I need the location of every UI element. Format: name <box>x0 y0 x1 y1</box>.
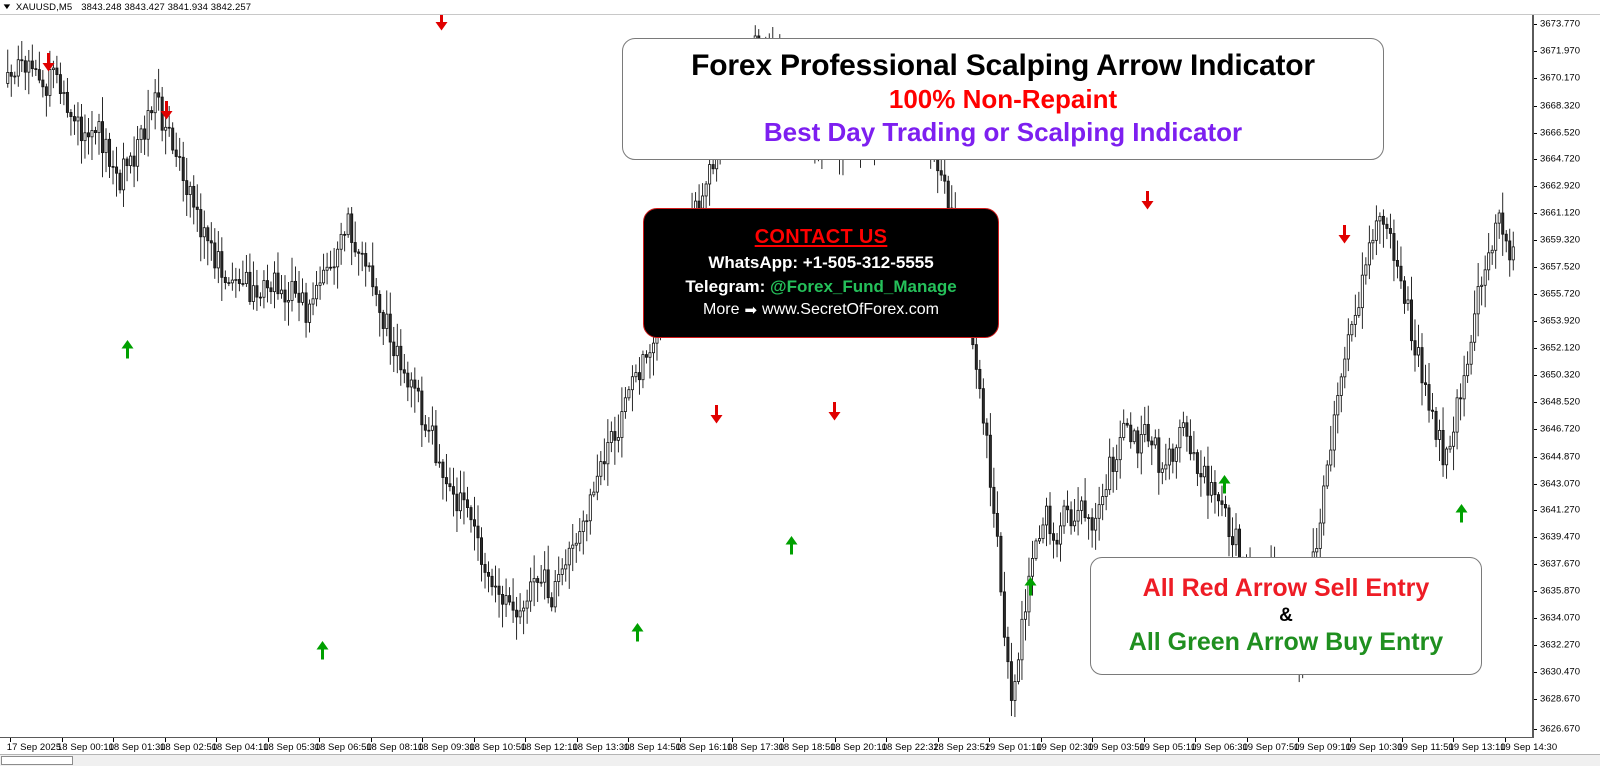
legend-buy-line: All Green Arrow Buy Entry <box>1129 628 1443 658</box>
price-tick-label: 3634.070 <box>1540 613 1580 624</box>
right-arrow-icon: ➡ <box>744 303 757 318</box>
price-tick-label: 3653.920 <box>1540 316 1580 327</box>
time-tick-label: 18 Sep 20:10 <box>830 742 887 753</box>
time-tick-label: 19 Sep 07:50 <box>1242 742 1299 753</box>
time-tick-label: 18 Sep 17:30 <box>727 742 784 753</box>
price-tick-label: 3673.770 <box>1540 19 1580 30</box>
contact-telegram-label: Telegram: <box>685 277 765 296</box>
promo-title-line2: 100% Non-Repaint <box>889 84 1117 115</box>
down-arrow-icon <box>709 405 724 424</box>
up-arrow-icon <box>1454 504 1469 523</box>
price-tick-label: 3639.470 <box>1540 532 1580 543</box>
price-tick-label: 3652.120 <box>1540 343 1580 354</box>
price-tick-label: 3661.120 <box>1540 208 1580 219</box>
time-tick-label: 17 Sep 2025 <box>7 742 61 753</box>
contact-telegram-row: Telegram: @Forex_Fund_Manage <box>685 275 956 299</box>
contact-whatsapp-label: WhatsApp: <box>708 253 798 272</box>
promo-title-line3: Best Day Trading or Scalping Indicator <box>764 117 1242 148</box>
time-tick-label: 18 Sep 04:10 <box>212 742 269 753</box>
time-tick-label: 18 Sep 10:50 <box>469 742 526 753</box>
price-tick-label: 3659.320 <box>1540 235 1580 246</box>
promo-title-line1: Forex Professional Scalping Arrow Indica… <box>691 49 1315 83</box>
time-tick-label: 18 Sep 06:50 <box>315 742 372 753</box>
price-axis-line <box>1533 15 1534 738</box>
price-tick-label: 3668.320 <box>1540 100 1580 111</box>
price-tick-label: 3626.670 <box>1540 724 1580 735</box>
time-tick-label: 19 Sep 09:10 <box>1294 742 1351 753</box>
price-tick-label: 3655.720 <box>1540 289 1580 300</box>
promo-title-box: Forex Professional Scalping Arrow Indica… <box>622 38 1384 160</box>
contact-box: CONTACT US WhatsApp: +1-505-312-5555 Tel… <box>643 208 999 338</box>
time-tick-label: 18 Sep 18:50 <box>779 742 836 753</box>
price-tick-label: 3641.270 <box>1540 505 1580 516</box>
time-tick-label: 19 Sep 10:30 <box>1345 742 1402 753</box>
contact-heading: CONTACT US <box>755 225 888 249</box>
time-tick-label: 19 Sep 06:30 <box>1191 742 1248 753</box>
time-tick-label: 19 Sep 11:50 <box>1397 742 1453 753</box>
chart-header: ▼ XAUUSD,M5 3843.248 3843.427 3841.934 3… <box>0 0 1600 15</box>
price-tick-label: 3664.720 <box>1540 154 1580 165</box>
price-tick-label: 3648.520 <box>1540 396 1580 407</box>
price-tick-label: 3630.470 <box>1540 667 1580 678</box>
down-arrow-icon <box>41 53 56 72</box>
price-tick-label: 3670.170 <box>1540 72 1580 83</box>
contact-telegram-value[interactable]: @Forex_Fund_Manage <box>770 277 957 296</box>
time-tick-label: 19 Sep 02:30 <box>1036 742 1093 753</box>
time-tick-label: 18 Sep 09:30 <box>418 742 475 753</box>
price-tick-label: 3635.870 <box>1540 586 1580 597</box>
legend-sell-line: All Red Arrow Sell Entry <box>1143 574 1430 604</box>
price-tick-label: 3657.520 <box>1540 262 1580 273</box>
time-tick-label: 19 Sep 01:10 <box>985 742 1042 753</box>
up-arrow-icon <box>784 536 799 555</box>
chevron-down-icon[interactable]: ▼ <box>1 3 12 11</box>
time-tick-label: 18 Sep 08:10 <box>366 742 423 753</box>
chart-symbol-label: XAUUSD,M5 <box>16 2 72 13</box>
contact-more-label: More <box>703 299 739 321</box>
up-arrow-icon <box>120 340 135 359</box>
price-tick-label: 3646.720 <box>1540 423 1580 434</box>
price-tick-label: 3662.920 <box>1540 181 1580 192</box>
price-tick-label: 3671.970 <box>1540 45 1580 56</box>
price-tick-label: 3632.270 <box>1540 640 1580 651</box>
contact-whatsapp-value[interactable]: +1-505-312-5555 <box>803 253 934 272</box>
legend-ampersand: & <box>1279 605 1293 628</box>
scrollbar-thumb[interactable] <box>1 756 73 765</box>
price-tick-label: 3643.070 <box>1540 478 1580 489</box>
up-arrow-icon <box>1217 475 1232 494</box>
time-tick-label: 18 Sep 16:10 <box>675 742 732 753</box>
time-tick-label: 18 Sep 12:10 <box>521 742 578 753</box>
contact-website-row: More ➡ www.SecretOfForex.com <box>703 299 939 321</box>
down-arrow-icon <box>827 402 842 421</box>
price-tick-label: 3628.670 <box>1540 694 1580 705</box>
time-tick-label: 18 Sep 05:30 <box>263 742 320 753</box>
time-tick-label: 18 Sep 02:50 <box>160 742 217 753</box>
down-arrow-icon <box>1337 225 1352 244</box>
contact-website-value[interactable]: www.SecretOfForex.com <box>762 299 939 321</box>
price-axis[interactable]: 3673.7703671.9703670.1703668.3203666.520… <box>1533 15 1600 738</box>
price-tick-label: 3644.870 <box>1540 451 1580 462</box>
time-axis[interactable]: 17 Sep 202518 Sep 00:1018 Sep 01:3018 Se… <box>0 738 1600 754</box>
down-arrow-icon <box>159 101 174 120</box>
time-tick-label: 19 Sep 14:30 <box>1500 742 1557 753</box>
up-arrow-icon <box>1023 577 1038 596</box>
horizontal-scrollbar[interactable] <box>0 754 1600 766</box>
time-tick-label: 18 Sep 22:32 <box>882 742 939 753</box>
time-tick-label: 19 Sep 05:10 <box>1139 742 1196 753</box>
chart-ohlc-values: 3843.248 3843.427 3841.934 3842.257 <box>81 2 251 13</box>
time-tick-label: 18 Sep 01:30 <box>109 742 166 753</box>
signal-legend-box: All Red Arrow Sell Entry & All Green Arr… <box>1090 557 1482 675</box>
time-tick-label: 18 Sep 13:30 <box>572 742 629 753</box>
up-arrow-icon <box>315 641 330 660</box>
price-tick-label: 3666.520 <box>1540 127 1580 138</box>
up-arrow-icon <box>630 623 645 642</box>
time-tick-label: 18 Sep 00:10 <box>57 742 114 753</box>
time-tick-label: 19 Sep 13:10 <box>1449 742 1506 753</box>
down-arrow-icon <box>1140 191 1155 210</box>
time-tick-label: 19 Sep 03:50 <box>1088 742 1145 753</box>
time-tick-label: 18 Sep 14:50 <box>624 742 681 753</box>
contact-whatsapp-row: WhatsApp: +1-505-312-5555 <box>708 251 933 275</box>
price-tick-label: 3650.320 <box>1540 370 1580 381</box>
mt4-chart-window: ▼ XAUUSD,M5 3843.248 3843.427 3841.934 3… <box>0 0 1600 766</box>
price-tick-label: 3637.670 <box>1540 559 1580 570</box>
time-tick-label: 18 Sep 23:52 <box>933 742 990 753</box>
